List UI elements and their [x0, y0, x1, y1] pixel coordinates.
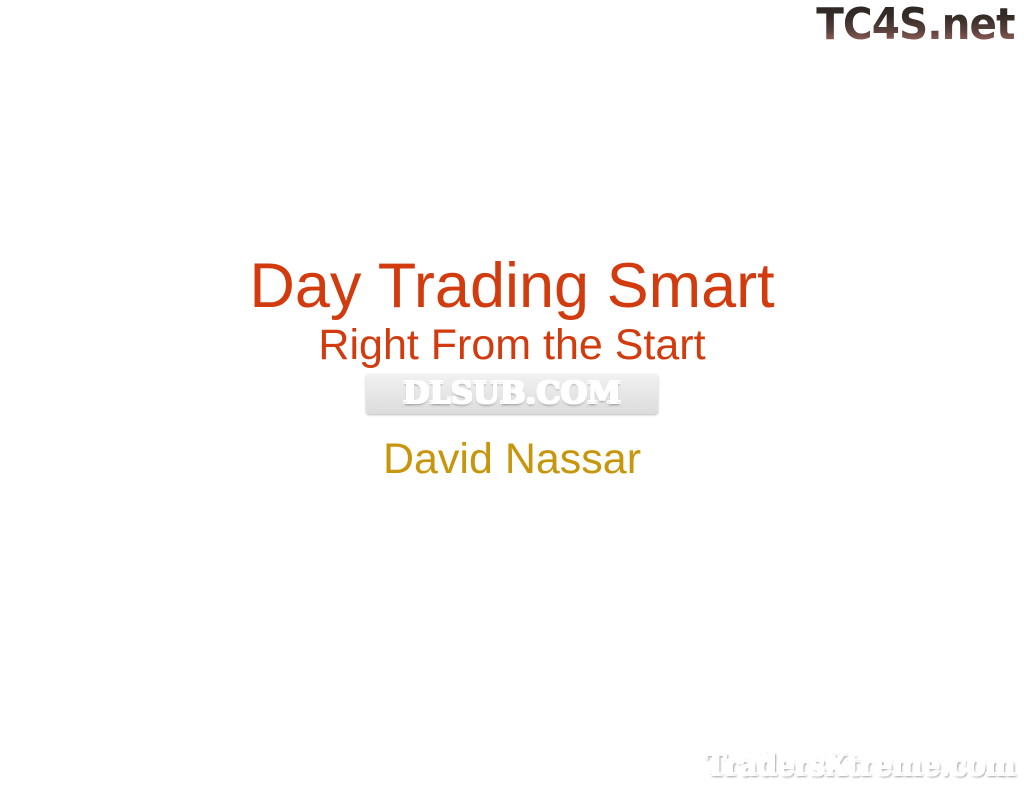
dlsub-watermark-text: DLSUB.COM	[403, 378, 621, 410]
author-name: David Nassar	[0, 434, 1024, 484]
page-subtitle: Right From the Start	[0, 320, 1024, 370]
tc4s-logo: TC4S.net	[817, 2, 1015, 48]
title-block: Day Trading Smart Right From the Start	[0, 252, 1024, 370]
dlsub-watermark: DLSUB.COM	[366, 374, 658, 414]
presentation-slide: TC4S.net Day Trading Smart Right From th…	[0, 0, 1024, 791]
tradersxtreme-logo: TradersXtreme.com	[705, 750, 1015, 782]
page-title: Day Trading Smart	[0, 252, 1024, 320]
